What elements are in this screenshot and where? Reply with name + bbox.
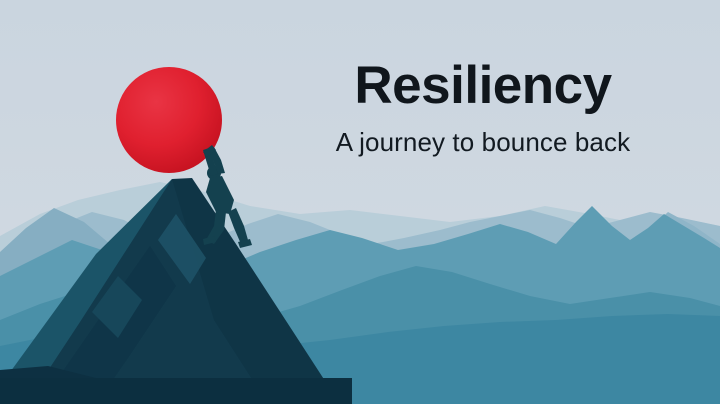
- title-block: Resiliency A journey to bounce back: [268, 58, 698, 156]
- foreground-base-fill: [0, 378, 352, 404]
- page-subtitle: A journey to bounce back: [268, 128, 698, 157]
- title-slide: Resiliency A journey to bounce back: [0, 0, 720, 404]
- page-title: Resiliency: [268, 58, 698, 114]
